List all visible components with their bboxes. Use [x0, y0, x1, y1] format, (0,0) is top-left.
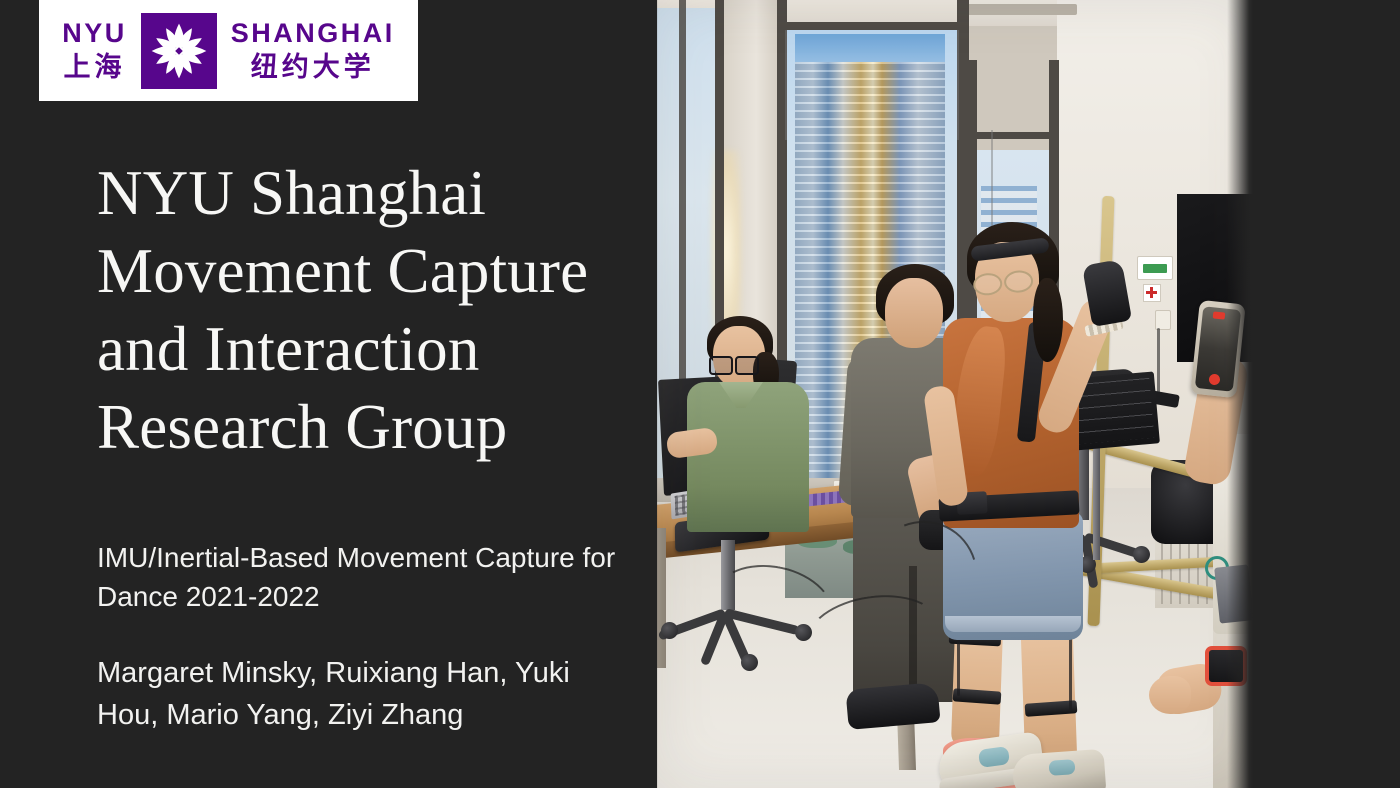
- ponytail: [1033, 278, 1063, 362]
- lens: [735, 356, 759, 375]
- presentation-slide: NYU 上海: [0, 0, 1400, 788]
- lens: [709, 356, 733, 375]
- lab-session-photo: [657, 0, 1253, 788]
- first-aid-cross-icon: [1143, 284, 1161, 302]
- slide-right-margin: [1253, 0, 1400, 788]
- table-leg: [657, 528, 666, 668]
- slide-text-panel: NYU 上海: [0, 0, 657, 788]
- caster-wheel: [661, 622, 678, 639]
- slide-title: NYU Shanghai Movement Capture and Intera…: [97, 154, 627, 466]
- logo-text-right: SHANGHAI 纽约大学: [231, 20, 395, 81]
- slide-authors: Margaret Minsky, Ruixiang Han, Yuki Hou,…: [97, 652, 637, 736]
- logo-english-right: SHANGHAI: [231, 20, 395, 47]
- wall-socket: [1155, 310, 1171, 330]
- torch-flower-emblem-icon: [141, 13, 217, 89]
- logo-text-left: NYU 上海: [62, 20, 127, 81]
- photo-scene: [657, 0, 1253, 788]
- logo-chinese-right: 纽约大学: [251, 54, 375, 81]
- sensor-wire: [1069, 630, 1072, 710]
- photo-left-edge: [645, 0, 658, 788]
- eyeglasses-icon: [972, 270, 1031, 293]
- nyu-shanghai-logo: NYU 上海: [39, 0, 418, 101]
- sensor-wire: [957, 638, 960, 696]
- eyeglasses-icon: [709, 356, 755, 371]
- green-polo-torso: [687, 382, 809, 532]
- caster-wheel: [1133, 546, 1150, 563]
- photo-right-fade: [1227, 0, 1253, 788]
- ceiling-vent: [957, 4, 1077, 15]
- window-header-rail: [967, 132, 1059, 139]
- sneaker-accent: [1049, 759, 1076, 776]
- denim-shorts-hem: [945, 616, 1081, 632]
- shade-wire: [957, 30, 959, 140]
- slide-subtitle: IMU/Inertial-Based Movement Capture for …: [97, 538, 617, 616]
- record-indicator-icon: [1213, 311, 1226, 319]
- shade-wire: [785, 30, 787, 140]
- hand: [1149, 676, 1191, 714]
- head: [885, 278, 943, 348]
- logo-chinese-left: 上海: [63, 54, 125, 81]
- caster-wheel: [741, 654, 758, 671]
- sign-band: [1143, 264, 1167, 273]
- music-stand-pole: [1093, 440, 1100, 560]
- wall-cable: [1157, 328, 1160, 398]
- sneaker: [845, 682, 940, 730]
- first-aid-sign: [1137, 256, 1173, 280]
- logo-english-left: NYU: [62, 20, 127, 47]
- window-header-rail: [777, 22, 969, 30]
